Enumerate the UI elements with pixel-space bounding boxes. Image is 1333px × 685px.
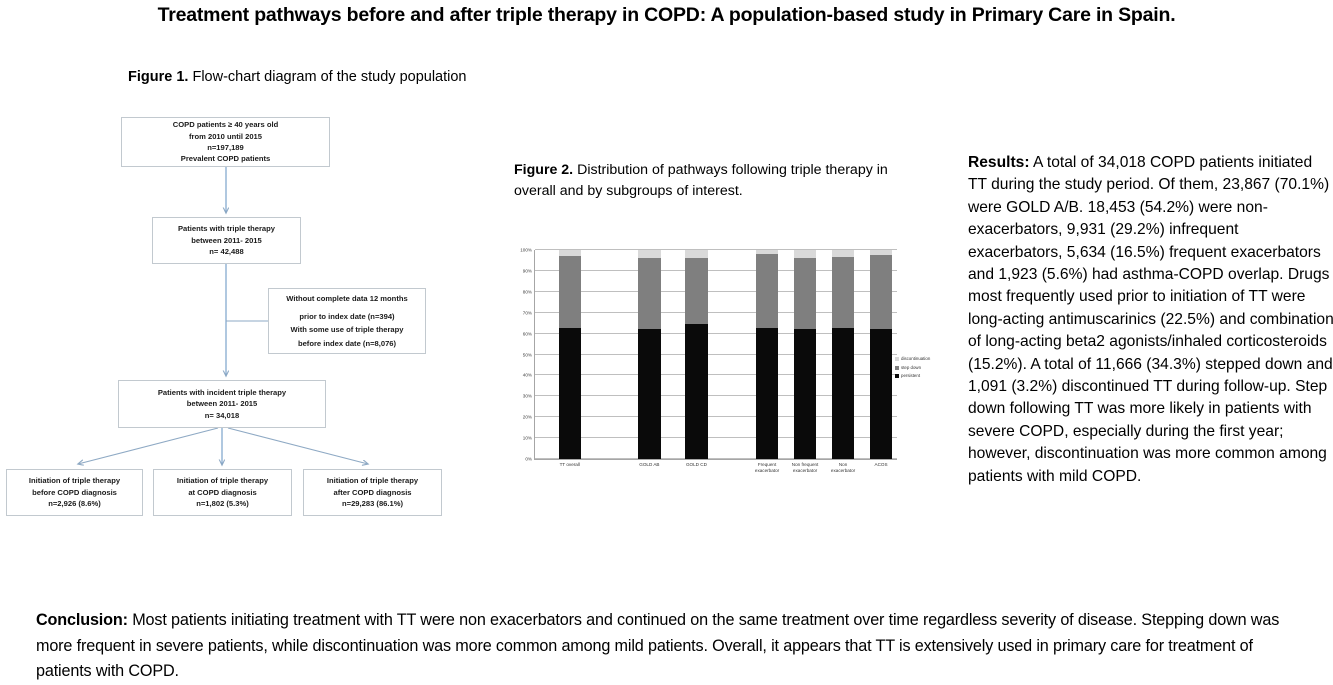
- chart-y-axis-tick: 40%: [523, 373, 532, 378]
- chart-bar-segment-persistent: [870, 329, 892, 459]
- chart-bar-segment-step-down: [559, 256, 581, 329]
- chart-bar-segment-persistent: [638, 329, 660, 459]
- chart-x-axis-tick: TT overall: [543, 462, 597, 468]
- flowchart-box-exclusion-line1: Without complete data 12 months: [273, 292, 421, 306]
- chart-bar: Non frequent exacerbator: [794, 250, 816, 459]
- flowchart-diagram: COPD patients ≥ 40 years old from 2010 u…: [0, 100, 500, 530]
- chart-x-axis-tick: GOLD AB: [622, 462, 676, 468]
- flowchart-box-incident-line1: Patients with incident triple therapy: [123, 387, 321, 398]
- chart-legend-label: step down: [901, 364, 921, 373]
- flowchart-box-after-diagnosis: Initiation of triple therapy after COPD …: [303, 469, 442, 516]
- chart-y-axis-tick: 60%: [523, 331, 532, 336]
- chart-y-axis-tick: 80%: [523, 289, 532, 294]
- chart-bar-segment-discontinuation: [638, 250, 660, 258]
- flowchart-box-exclusion-line3: With some use of triple therapy: [273, 323, 421, 337]
- chart-y-axis-tick: 10%: [523, 436, 532, 441]
- flowchart-box-exclusion-line4: before index date (n=8,076): [273, 337, 421, 351]
- flowchart-box-exclusion-line2: prior to index date (n=394): [273, 310, 421, 324]
- figure1-caption: Figure 1. Flow-chart diagram of the stud…: [128, 68, 467, 87]
- flowchart-box-at-diagnosis-line3: n=1,802 (5.3%): [158, 498, 287, 509]
- flowchart-box-prevalent-line2: from 2010 until 2015: [126, 131, 325, 142]
- chart-bar-segment-persistent: [832, 328, 854, 459]
- results-label: Results:: [968, 154, 1030, 171]
- chart-y-axis-tick: 20%: [523, 415, 532, 420]
- chart-legend-label: discontinuation: [901, 355, 930, 364]
- chart-legend-swatch: [895, 357, 899, 361]
- flowchart-box-exclusion: Without complete data 12 months prior to…: [268, 288, 426, 354]
- stacked-bar-chart: 0%10%20%30%40%50%60%70%80%90%100%TT over…: [503, 243, 903, 488]
- chart-y-axis-tick: 50%: [523, 352, 532, 357]
- chart-legend-item: discontinuation: [895, 355, 930, 364]
- flowchart-box-prevalent: COPD patients ≥ 40 years old from 2010 u…: [121, 117, 330, 167]
- chart-bar-segment-step-down: [638, 258, 660, 329]
- flowchart-box-at-diagnosis-line2: at COPD diagnosis: [158, 487, 287, 498]
- flowchart-box-before-diagnosis-line1: Initiation of triple therapy: [11, 475, 138, 486]
- chart-bar-segment-step-down: [756, 254, 778, 328]
- flowchart-box-incident-line3: n= 34,018: [123, 410, 321, 421]
- flowchart-box-before-diagnosis: Initiation of triple therapy before COPD…: [6, 469, 143, 516]
- chart-bar-segment-discontinuation: [685, 250, 707, 258]
- chart-bar-segment-discontinuation: [794, 250, 816, 258]
- chart-bar: Frequent exacerbator: [756, 250, 778, 459]
- flowchart-box-at-diagnosis-line1: Initiation of triple therapy: [158, 475, 287, 486]
- chart-legend-label: persistent: [901, 372, 920, 381]
- flowchart-box-after-diagnosis-line2: after COPD diagnosis: [308, 487, 437, 498]
- chart-bar-segment-persistent: [685, 324, 707, 459]
- figure2-label: Figure 2.: [514, 162, 573, 178]
- flowchart-box-incident-line2: between 2011- 2015: [123, 398, 321, 409]
- flowchart-box-at-diagnosis: Initiation of triple therapy at COPD dia…: [153, 469, 292, 516]
- chart-legend-swatch: [895, 366, 899, 370]
- chart-plot-area: 0%10%20%30%40%50%60%70%80%90%100%TT over…: [534, 250, 897, 460]
- chart-bar-segment-persistent: [559, 328, 581, 459]
- flowchart-box-before-diagnosis-line3: n=2,926 (8.6%): [11, 498, 138, 509]
- results-paragraph: Results: A total of 34,018 COPD patients…: [968, 152, 1333, 488]
- chart-bar: TT overall: [559, 250, 581, 459]
- flowchart-box-after-diagnosis-line1: Initiation of triple therapy: [308, 475, 437, 486]
- chart-bar-segment-step-down: [832, 257, 854, 327]
- flowchart-box-triple-therapy-line3: n= 42,488: [157, 246, 296, 257]
- chart-bar: ACOS: [870, 250, 892, 459]
- conclusion-text: Most patients initiating treatment with …: [36, 611, 1279, 680]
- flowchart-box-before-diagnosis-line2: before COPD diagnosis: [11, 487, 138, 498]
- chart-legend: discontinuationstep downpersistent: [895, 355, 930, 381]
- flowchart-box-prevalent-line1: COPD patients ≥ 40 years old: [126, 119, 325, 130]
- figure2-caption: Figure 2. Distribution of pathways follo…: [514, 160, 924, 202]
- chart-bar: GOLD CD: [685, 250, 707, 459]
- chart-bar: GOLD AB: [638, 250, 660, 459]
- chart-bar-segment-persistent: [756, 328, 778, 459]
- flowchart-box-triple-therapy-line1: Patients with triple therapy: [157, 223, 296, 234]
- flowchart-box-prevalent-line4: Prevalent COPD patients: [126, 153, 325, 164]
- flowchart-box-prevalent-line3: n=197,189: [126, 142, 325, 153]
- chart-legend-swatch: [895, 374, 899, 378]
- results-text: A total of 34,018 COPD patients initiate…: [968, 154, 1333, 485]
- chart-legend-item: step down: [895, 364, 930, 373]
- figure1-label: Figure 1.: [128, 69, 188, 85]
- chart-bar-segment-discontinuation: [832, 250, 854, 257]
- chart-bar-segment-persistent: [794, 329, 816, 459]
- flowchart-box-triple-therapy-line2: between 2011- 2015: [157, 235, 296, 246]
- chart-x-axis-tick: ACOS: [854, 462, 908, 468]
- figure1-caption-text: Flow-chart diagram of the study populati…: [188, 69, 466, 85]
- chart-y-axis-tick: 30%: [523, 394, 532, 399]
- chart-legend-item: persistent: [895, 372, 930, 381]
- conclusion-paragraph: Conclusion: Most patients initiating tre…: [36, 608, 1304, 685]
- flowchart-box-after-diagnosis-line3: n=29,283 (86.1%): [308, 498, 437, 509]
- chart-y-axis-tick: 0%: [525, 457, 532, 462]
- page-title: Treatment pathways before and after trip…: [0, 2, 1333, 28]
- chart-x-axis-tick: GOLD CD: [670, 462, 724, 468]
- chart-bar-segment-step-down: [870, 255, 892, 329]
- chart-y-axis-tick: 90%: [523, 268, 532, 273]
- flowchart-box-triple-therapy: Patients with triple therapy between 201…: [152, 217, 301, 264]
- chart-y-axis-tick: 100%: [520, 248, 532, 253]
- chart-bar-segment-step-down: [794, 258, 816, 329]
- chart-y-axis-tick: 70%: [523, 310, 532, 315]
- chart-bar: Non exacerbator: [832, 250, 854, 459]
- chart-bar-segment-step-down: [685, 258, 707, 324]
- conclusion-label: Conclusion:: [36, 611, 128, 629]
- flowchart-box-incident: Patients with incident triple therapy be…: [118, 380, 326, 428]
